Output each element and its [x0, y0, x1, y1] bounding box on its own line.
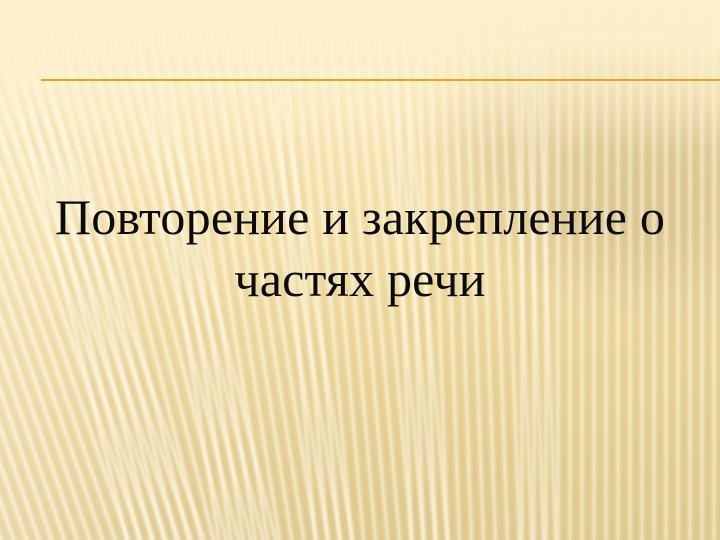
texture-top-fade: [0, 0, 720, 150]
title-divider: [41, 79, 720, 81]
presentation-slide: Повторение и закрепление о частях речи: [0, 0, 720, 540]
slide-title: Повторение и закрепление о частях речи: [30, 186, 690, 310]
